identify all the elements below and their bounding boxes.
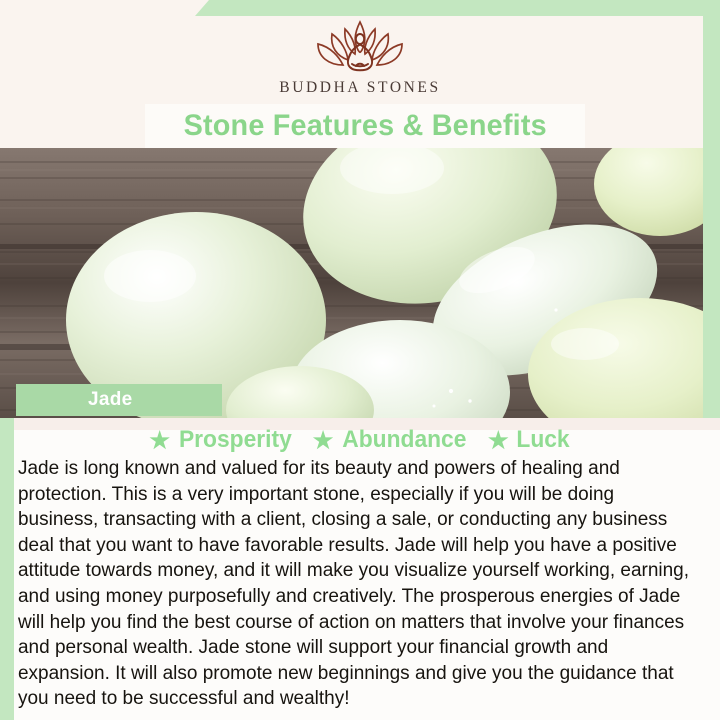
title-banner: Stone Features & Benefits bbox=[145, 104, 585, 148]
stone-name-band: Jade bbox=[16, 384, 222, 416]
brand-logo: BUDDHA STONES bbox=[0, 16, 720, 108]
star-icon: ★ bbox=[313, 429, 334, 452]
page-title: Stone Features & Benefits bbox=[183, 109, 546, 143]
promo-card: BUDDHA STONES Stone Features & Benefits bbox=[0, 0, 720, 720]
stone-name: Jade bbox=[88, 389, 133, 411]
star-icon: ★ bbox=[488, 429, 509, 452]
lotus-meditation-icon bbox=[285, 16, 435, 78]
keyword-label: Luck bbox=[516, 426, 569, 454]
brand-name: BUDDHA STONES bbox=[279, 79, 440, 97]
keyword-luck: ★ Luck bbox=[488, 426, 571, 454]
star-icon: ★ bbox=[149, 429, 170, 452]
jade-stones-photo bbox=[0, 148, 703, 418]
top-green-band bbox=[195, 0, 720, 16]
photo-illustration bbox=[0, 148, 703, 418]
keyword-label: Abundance bbox=[343, 426, 467, 454]
keyword-label: Prosperity bbox=[179, 426, 292, 454]
stone-description: Jade is long known and valued for its be… bbox=[18, 456, 696, 712]
keyword-prosperity: ★ Prosperity bbox=[149, 426, 294, 454]
keyword-list: ★ Prosperity ★ Abundance ★ Luck bbox=[0, 424, 720, 456]
keyword-abundance: ★ Abundance bbox=[313, 426, 470, 454]
